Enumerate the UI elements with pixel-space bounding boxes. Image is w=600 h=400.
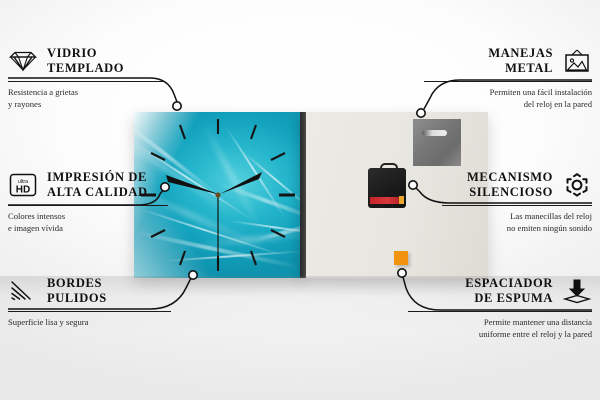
feature-description: Colores intensos e imagen vívida xyxy=(8,210,208,234)
feature-vidrio-templado: VIDRIO TEMPLADO Resistencia a grietas y … xyxy=(8,44,208,110)
feature-title: IMPRESIÓN DE ALTA CALIDAD xyxy=(47,170,148,200)
feature-manejas-metal: MANEJAS METAL Permiten una fácil instala… xyxy=(392,44,592,110)
feature-header: MANEJAS METAL xyxy=(392,44,592,78)
feature-divider xyxy=(442,205,592,206)
feature-bordes-pulidos: BORDES PULIDOS Superficie lisa y segura xyxy=(8,274,208,328)
feature-description: Las manecillas del reloj no emiten ningú… xyxy=(392,210,592,234)
feature-description: Superficie lisa y segura xyxy=(8,316,208,328)
feature-description: Resistencia a grietas y rayones xyxy=(8,86,208,110)
feature-divider xyxy=(8,311,171,312)
gear-icon xyxy=(562,170,592,200)
feature-espaciador-de-espuma: ESPACIADOR DE ESPUMA Permite mantener un… xyxy=(392,274,592,340)
feature-header: MECANISMO SILENCIOSO xyxy=(392,168,592,202)
polished-edges-icon xyxy=(8,276,38,306)
feature-header: BORDES PULIDOS xyxy=(8,274,208,308)
feature-divider xyxy=(408,311,592,312)
feature-description: Permiten una fácil instalación del reloj… xyxy=(392,86,592,110)
hanger-slot xyxy=(422,130,447,136)
feature-title: VIDRIO TEMPLADO xyxy=(47,46,124,76)
feature-divider xyxy=(8,205,168,206)
down-arrow-pad-icon xyxy=(562,276,592,306)
wall-frame-hanger-icon xyxy=(562,46,592,76)
feature-mecanismo-silencioso: MECANISMO SILENCIOSO Las manecillas del … xyxy=(392,168,592,234)
feature-header: VIDRIO TEMPLADO xyxy=(8,44,208,78)
ultra-hd-icon: ultra HD xyxy=(8,170,38,200)
feature-header: ESPACIADOR DE ESPUMA xyxy=(392,274,592,308)
feature-header: ultra HD IMPRESIÓN DE ALTA CALIDAD xyxy=(8,168,208,202)
feature-description: Permite mantener una distancia uniforme … xyxy=(392,316,592,340)
feature-impresion-alta-calidad: ultra HD IMPRESIÓN DE ALTA CALIDAD Color… xyxy=(8,168,208,234)
svg-text:HD: HD xyxy=(16,185,30,196)
metal-hanger-plate xyxy=(413,119,461,166)
feature-divider xyxy=(424,81,592,82)
clock-edge-profile xyxy=(300,112,306,278)
feature-title: MANEJAS METAL xyxy=(488,46,553,76)
diamond-icon xyxy=(8,46,38,76)
infographic-canvas: VIDRIO TEMPLADO Resistencia a grietas y … xyxy=(0,0,600,400)
feature-title: MECANISMO SILENCIOSO xyxy=(467,170,553,200)
feature-divider xyxy=(8,81,163,82)
feature-title: BORDES PULIDOS xyxy=(47,276,107,306)
foam-spacer xyxy=(394,251,408,265)
feature-title: ESPACIADOR DE ESPUMA xyxy=(465,276,553,306)
